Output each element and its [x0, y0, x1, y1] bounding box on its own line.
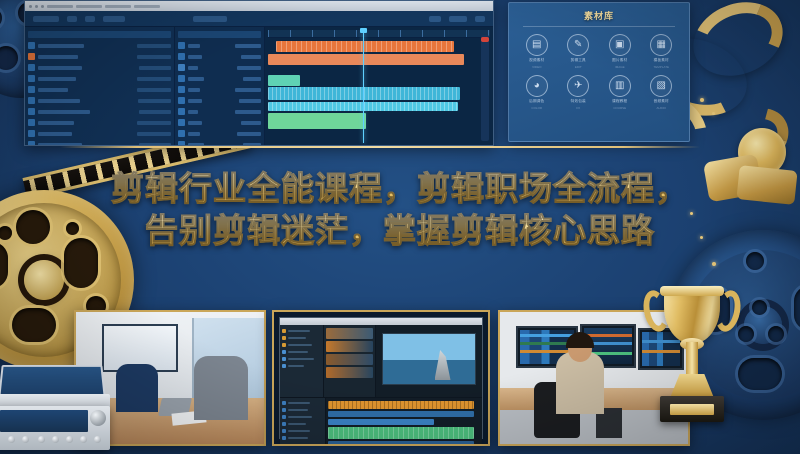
archive-box-icon[interactable]: ▤: [526, 34, 548, 56]
library-item-6[interactable]: ▥ 课程教程 COURSE: [600, 75, 640, 110]
pen-edit-icon[interactable]: ✎: [567, 34, 589, 56]
library-item-label: 课程教程: [612, 99, 627, 104]
library-item-2[interactable]: ▣ 图片素材 IMAGE: [600, 34, 640, 69]
effects-panel[interactable]: [175, 27, 265, 146]
video-editor-window[interactable]: [24, 0, 494, 146]
library-item-0[interactable]: ▤ 视频素材 VIDEO: [517, 34, 557, 69]
library-item-label: 图片素材: [612, 58, 627, 63]
vintage-radio: [0, 364, 112, 450]
material-library-panel[interactable]: 素材库 ▤ 视频素材 VIDEO ✎ 剪辑工具 EDIT ▣ 图片素材 IMAG…: [508, 2, 690, 142]
top-media-strip: 素材库 ▤ 视频素材 VIDEO ✎ 剪辑工具 EDIT ▣ 图片素材 IMAG…: [0, 0, 800, 150]
sparkle-dot: [712, 262, 716, 266]
library-item-1[interactable]: ✎ 剪辑工具 EDIT: [559, 34, 599, 69]
timeline-waveform[interactable]: [268, 87, 460, 100]
timeline-scrollbar[interactable]: [481, 35, 489, 141]
card-list-icon[interactable]: ▧: [650, 75, 672, 97]
library-item-sub: COURSE: [613, 106, 626, 110]
library-item-sub: FX: [576, 106, 580, 110]
library-item-7[interactable]: ▧ 音频素材 AUDIO: [642, 75, 682, 110]
asset-list-panel[interactable]: [25, 27, 175, 146]
rocket-icon[interactable]: ✈: [567, 75, 589, 97]
record-indicator: [481, 37, 489, 42]
timeline-clip-green[interactable]: [268, 113, 366, 129]
headline-line-1: 剪辑行业全能课程，剪辑职场全流程，: [0, 168, 800, 210]
timeline-clip-video[interactable]: [268, 54, 464, 65]
library-item-3[interactable]: ▦ 模板素材 TEMPLATE: [642, 34, 682, 69]
compass-icon[interactable]: ◕: [526, 75, 548, 97]
library-item-label: 音频素材: [654, 99, 669, 104]
library-item-label: 视频素材: [529, 58, 544, 63]
library-item-sub: TEMPLATE: [653, 65, 669, 69]
library-item-label: 模板素材: [654, 58, 669, 63]
image-file-icon[interactable]: ▣: [609, 34, 631, 56]
timeline-ruler[interactable]: [268, 30, 490, 38]
library-title: 素材库: [517, 9, 681, 22]
library-icon-grid[interactable]: ▤ 视频素材 VIDEO ✎ 剪辑工具 EDIT ▣ 图片素材 IMAGE ▦ …: [517, 34, 681, 110]
editor-titlebar: [25, 1, 493, 11]
library-item-sub: COLOR: [531, 106, 542, 110]
headline-line-2: 告别剪辑迷茫，掌握剪辑核心思路: [0, 210, 800, 252]
gold-divider: [60, 146, 700, 148]
poster-canvas: 素材库 ▤ 视频素材 VIDEO ✎ 剪辑工具 EDIT ▣ 图片素材 IMAG…: [0, 0, 800, 454]
timeline-panel[interactable]: [265, 27, 493, 146]
book-icon[interactable]: ▥: [609, 75, 631, 97]
library-item-5[interactable]: ✈ 特效包装 FX: [559, 75, 599, 110]
library-item-sub: IMAGE: [615, 65, 625, 69]
divider: [523, 26, 675, 27]
library-item-label: 后期调色: [529, 99, 544, 104]
library-item-sub: EDIT: [575, 65, 582, 69]
gold-trophy: [640, 276, 744, 448]
library-item-label: 特效包装: [571, 99, 586, 104]
timeline-clip-video[interactable]: [276, 41, 454, 52]
editor-toolbar[interactable]: [25, 11, 493, 27]
library-item-label: 剪辑工具: [571, 58, 586, 63]
headline-block: 剪辑行业全能课程，剪辑职场全流程， 告别剪辑迷茫，掌握剪辑核心思路: [0, 168, 800, 252]
library-item-sub: AUDIO: [656, 106, 666, 110]
timeline-clip-audio[interactable]: [268, 75, 300, 86]
document-grid-icon[interactable]: ▦: [650, 34, 672, 56]
library-item-4[interactable]: ◕ 后期调色 COLOR: [517, 75, 557, 110]
library-item-sub: VIDEO: [532, 65, 541, 69]
timeline-playhead[interactable]: [363, 30, 364, 143]
photo-editing-suite: [272, 310, 490, 446]
